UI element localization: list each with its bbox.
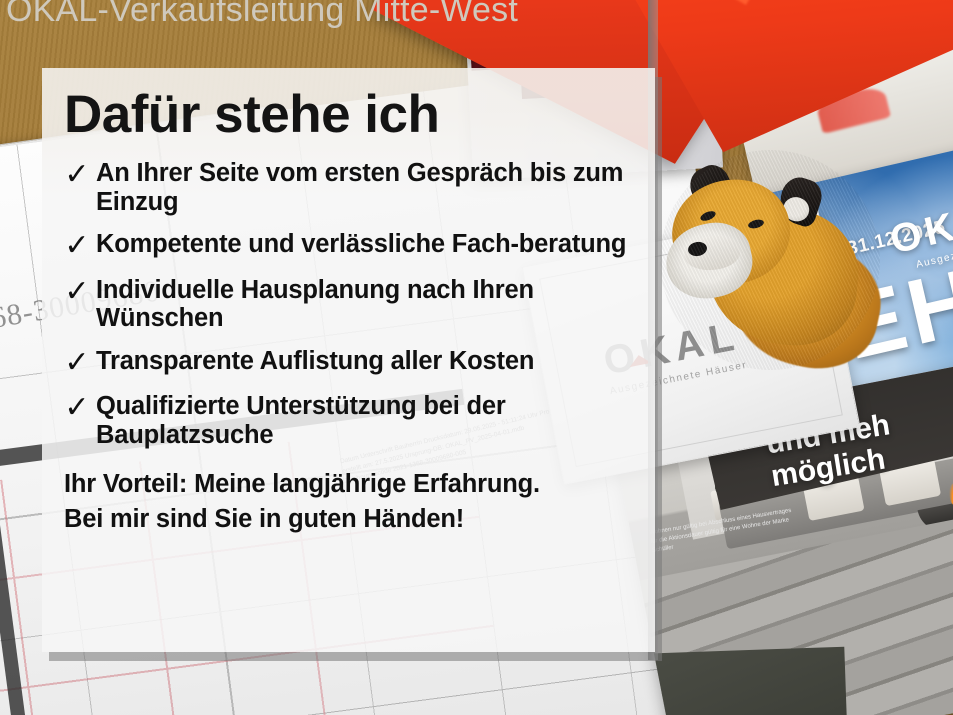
list-item: ✓ Kompetente und verlässliche Fach-berat… — [58, 230, 639, 262]
closing-line-1: Ihr Vorteil: Meine langjährige Erfahrung… — [64, 467, 639, 501]
screenshot-canvas: 1368-30009680 Datum Unterschrift Bauherr… — [0, 0, 953, 715]
list-item-label: An Ihrer Seite vom ersten Gespräch bis z… — [96, 159, 639, 216]
list-item: ✓ Qualifizierte Unterstützung bei der Ba… — [58, 392, 639, 449]
panel-content: Dafür stehe ich ✓ An Ihrer Seite vom ers… — [58, 80, 639, 640]
list-item-label: Kompetente und verlässliche Fach-beratun… — [96, 230, 639, 259]
page-title: Dafür stehe ich — [64, 88, 639, 141]
fox-plush-figure — [660, 150, 880, 370]
list-item-label: Qualifizierte Unterstützung bei der Baup… — [96, 392, 639, 449]
closing-statement: Ihr Vorteil: Meine langjährige Erfahrung… — [64, 467, 639, 536]
list-item: ✓ Transparente Auflistung aller Kosten — [58, 347, 639, 379]
list-item: ✓ An Ihrer Seite vom ersten Gespräch bis… — [58, 159, 639, 216]
check-icon: ✓ — [58, 392, 96, 424]
list-item-label: Transparente Auflistung aller Kosten — [96, 347, 639, 376]
list-item-label: Individuelle Hausplanung nach Ihren Wüns… — [96, 276, 639, 333]
check-icon: ✓ — [58, 276, 96, 308]
brochure-okal-logo: OKAL Ausgezeichnete — [886, 190, 953, 275]
header-overlay-text: OKAL-Verkaufsleitung Mitte-West — [6, 0, 518, 30]
content-panel: Dafür stehe ich ✓ An Ihrer Seite vom ers… — [42, 68, 655, 652]
closing-line-2: Bei mir sind Sie in guten Händen! — [64, 502, 639, 536]
check-icon: ✓ — [58, 159, 96, 191]
check-icon: ✓ — [58, 230, 96, 262]
list-item: ✓ Individuelle Hausplanung nach Ihren Wü… — [58, 276, 639, 333]
check-icon: ✓ — [58, 347, 96, 379]
